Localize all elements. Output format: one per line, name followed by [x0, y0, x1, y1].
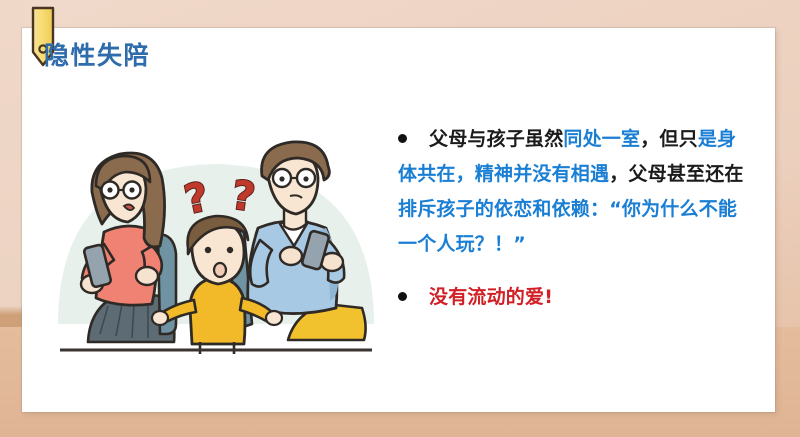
page-title: 隐性失陪 [44, 38, 150, 72]
text-run: 没有流动的爱! [429, 286, 553, 308]
text-run: 父母与孩子虽然 [429, 128, 563, 150]
text-run: 排斥孩子的依恋和依赖： [398, 198, 609, 220]
text-run: ，父母 [609, 163, 667, 185]
slide-root: 隐性失陪 [0, 0, 800, 437]
page-title-text: 隐性失陪 [44, 43, 150, 68]
family-on-phones-illustration: ? ? [48, 128, 384, 360]
bullet-marker-2 [398, 292, 407, 301]
content-text-block: 父母与孩子虽然同处一室，但只是身体共在，精神并没有相遇，父母甚至还在排斥孩子的依… [398, 122, 746, 315]
bullet-paragraph-1: 父母与孩子虽然同处一室，但只是身体共在，精神并没有相遇，父母甚至还在排斥孩子的依… [398, 122, 746, 262]
bullet-paragraph-2: 没有流动的爱! [398, 280, 746, 315]
text-run: 同处一室 [563, 128, 640, 150]
bullet-marker-1 [398, 134, 407, 143]
text-run: ，但只 [640, 128, 698, 150]
text-run: 甚至还在 [667, 163, 744, 185]
